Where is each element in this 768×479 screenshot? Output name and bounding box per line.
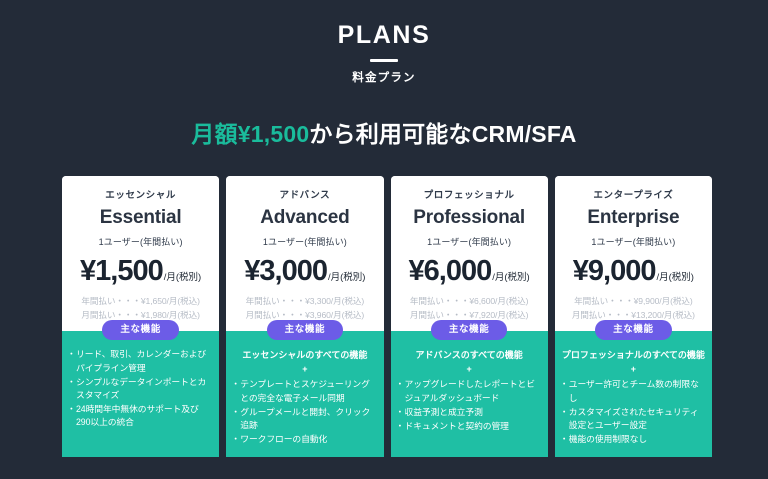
price-amount: ¥6,000	[409, 257, 492, 286]
list-item: シンプルなデータインポートとカスタマイズ	[69, 376, 212, 402]
price-notes: 年間払い・・・¥1,650/月(税込) 月間払い・・・¥1,980/月(税込)	[70, 295, 211, 322]
card-header: アドバンス Advanced 1ユーザー(年間払い) ¥3,000 /月(税別)…	[226, 176, 383, 331]
price-note-yearly: 年間払い・・・¥6,600/月(税込)	[399, 295, 540, 308]
card-features: 主な機能 プロフェッショナルのすべての機能 + ユーザー許可とチーム数の制限なし…	[555, 331, 712, 458]
list-item: リード、取引、カレンダーおよびパイプライン管理	[69, 348, 212, 374]
status-badge: 主な機能	[102, 320, 178, 340]
list-item: ドキュメントと契約の管理	[398, 420, 541, 433]
price-amount: ¥1,500	[80, 257, 163, 286]
card-features: 主な機能 リード、取引、カレンダーおよびパイプライン管理シンプルなデータインポー…	[62, 331, 219, 458]
plan-unit: 1ユーザー(年間払い)	[70, 235, 211, 248]
price-amount: ¥9,000	[573, 257, 656, 286]
status-badge: 主な機能	[431, 320, 507, 340]
list-item: グループメールと開封、クリック追跡	[233, 406, 376, 432]
price-row: ¥3,000 /月(税別)	[234, 257, 375, 286]
inherited-plan-label: アドバンスのすべての機能	[398, 349, 541, 361]
pricing-card[interactable]: アドバンス Advanced 1ユーザー(年間払い) ¥3,000 /月(税別)…	[226, 176, 383, 457]
feature-list: アップグレードしたレポートとビジュアルダッシュボード収益予測と成立予測ドキュメン…	[398, 378, 541, 433]
price-suffix: /月(税別)	[656, 269, 693, 283]
plan-name-en: Essential	[70, 208, 211, 229]
list-item: カスタマイズされたセキュリティ設定とユーザー設定	[562, 406, 705, 432]
badge-wrap: 主な機能	[69, 320, 212, 340]
plan-name-ja: アドバンス	[234, 190, 375, 201]
price-row: ¥6,000 /月(税別)	[399, 257, 540, 286]
price-row: ¥1,500 /月(税別)	[70, 257, 211, 286]
plus-separator: +	[398, 364, 541, 374]
title-divider	[370, 59, 398, 62]
price-suffix: /月(税別)	[164, 269, 201, 283]
price-notes: 年間払い・・・¥3,300/月(税込) 月間払い・・・¥3,960/月(税込)	[234, 295, 375, 322]
plan-name-ja: プロフェッショナル	[399, 190, 540, 201]
price-suffix: /月(税別)	[492, 269, 529, 283]
page-subtitle: 料金プラン	[0, 69, 768, 85]
plan-unit: 1ユーザー(年間払い)	[399, 235, 540, 248]
feature-list: ユーザー許可とチーム数の制限なしカスタマイズされたセキュリティ設定とユーザー設定…	[562, 378, 705, 446]
price-notes: 年間払い・・・¥6,600/月(税込) 月間払い・・・¥7,920/月(税込)	[399, 295, 540, 322]
pricing-page: PLANS 料金プラン 月額¥1,500から利用可能なCRM/SFA エッセンシ…	[0, 0, 768, 479]
plan-name-ja: エンタープライズ	[563, 190, 704, 201]
status-badge: 主な機能	[595, 320, 671, 340]
feature-list: テンプレートとスケジューリングとの完全な電子メール同期グループメールと開封、クリ…	[233, 378, 376, 446]
inherited-plan-label: エッセンシャルのすべての機能	[233, 349, 376, 361]
badge-wrap: 主な機能	[233, 320, 376, 340]
list-item: アップグレードしたレポートとビジュアルダッシュボード	[398, 378, 541, 404]
card-features: 主な機能 エッセンシャルのすべての機能 + テンプレートとスケジューリングとの完…	[226, 331, 383, 458]
inherited-plan-label: プロフェッショナルのすべての機能	[562, 349, 705, 361]
card-header: エッセンシャル Essential 1ユーザー(年間払い) ¥1,500 /月(…	[62, 176, 219, 331]
list-item: 24時間年中無休のサポート及び290以上の統合	[69, 403, 212, 429]
list-item: 機能の使用制限なし	[562, 433, 705, 446]
price-note-yearly: 年間払い・・・¥1,650/月(税込)	[70, 295, 211, 308]
list-item: ユーザー許可とチーム数の制限なし	[562, 378, 705, 404]
price-note-yearly: 年間払い・・・¥9,900/月(税込)	[563, 295, 704, 308]
plus-separator: +	[562, 364, 705, 374]
list-item: ワークフローの自動化	[233, 433, 376, 446]
price-notes: 年間払い・・・¥9,900/月(税込) 月間払い・・・¥13,200/月(税込)	[563, 295, 704, 322]
headline: 月額¥1,500から利用可能なCRM/SFA	[0, 115, 768, 149]
plan-unit: 1ユーザー(年間払い)	[563, 235, 704, 248]
plan-unit: 1ユーザー(年間払い)	[234, 235, 375, 248]
list-item: テンプレートとスケジューリングとの完全な電子メール同期	[233, 378, 376, 404]
headline-accent: 月額¥1,500	[191, 121, 309, 147]
page-title: PLANS	[0, 22, 768, 50]
list-item: 収益予測と成立予測	[398, 406, 541, 419]
plus-separator: +	[233, 364, 376, 374]
card-header: プロフェッショナル Professional 1ユーザー(年間払い) ¥6,00…	[391, 176, 548, 331]
pricing-cards: エッセンシャル Essential 1ユーザー(年間払い) ¥1,500 /月(…	[62, 176, 712, 457]
price-note-yearly: 年間払い・・・¥3,300/月(税込)	[234, 295, 375, 308]
price-suffix: /月(税別)	[328, 269, 365, 283]
plan-name-en: Enterprise	[563, 208, 704, 229]
pricing-card[interactable]: エッセンシャル Essential 1ユーザー(年間払い) ¥1,500 /月(…	[62, 176, 219, 457]
badge-wrap: 主な機能	[562, 320, 705, 340]
card-header: エンタープライズ Enterprise 1ユーザー(年間払い) ¥9,000 /…	[555, 176, 712, 331]
pricing-card[interactable]: プロフェッショナル Professional 1ユーザー(年間払い) ¥6,00…	[391, 176, 548, 457]
price-amount: ¥3,000	[244, 257, 327, 286]
plan-name-en: Advanced	[234, 208, 375, 229]
headline-plain: から利用可能なCRM/SFA	[309, 121, 576, 147]
status-badge: 主な機能	[267, 320, 343, 340]
plan-name-ja: エッセンシャル	[70, 190, 211, 201]
price-row: ¥9,000 /月(税別)	[563, 257, 704, 286]
section-header: PLANS 料金プラン	[0, 0, 768, 85]
plan-name-en: Professional	[399, 208, 540, 229]
pricing-card[interactable]: エンタープライズ Enterprise 1ユーザー(年間払い) ¥9,000 /…	[555, 176, 712, 457]
feature-list: リード、取引、カレンダーおよびパイプライン管理シンプルなデータインポートとカスタ…	[69, 348, 212, 429]
badge-wrap: 主な機能	[398, 320, 541, 340]
card-features: 主な機能 アドバンスのすべての機能 + アップグレードしたレポートとビジュアルダ…	[391, 331, 548, 458]
